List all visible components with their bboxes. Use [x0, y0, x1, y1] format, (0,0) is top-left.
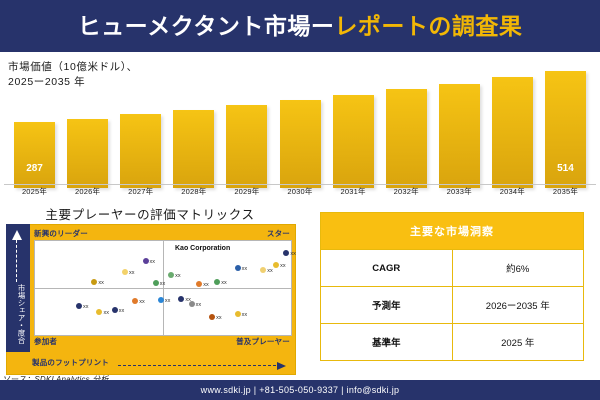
matrix-data-point-label: xx — [280, 263, 286, 269]
bar — [439, 84, 480, 188]
quadrant-label-stars: スター — [267, 228, 290, 239]
x-axis-tick-label: 2031年 — [331, 186, 375, 197]
x-axis-tick-label: 2028年 — [172, 186, 216, 197]
matrix-data-point — [122, 269, 128, 275]
bar-column — [439, 84, 480, 188]
bar — [386, 89, 427, 188]
matrix-data-point-label: xx — [242, 266, 248, 272]
table-row: 予測年2026ー2035 年 — [321, 287, 584, 324]
matrix-data-point-label: xx — [242, 312, 248, 318]
matrix-data-point — [196, 281, 202, 287]
evaluation-matrix-section: 主要プレーヤーの評価マトリックス 市場シェア・度合 新興のリーダー スター 参加… — [0, 202, 300, 380]
matrix-data-point — [273, 262, 279, 268]
matrix-data-point — [168, 272, 174, 278]
matrix-data-point-label: xx — [203, 282, 209, 288]
table-cell-key: 基準年 — [321, 324, 453, 361]
bar-column — [492, 77, 533, 188]
matrix-data-point-label: xx — [98, 280, 104, 286]
bar — [226, 105, 267, 188]
quadrant-label-participants: 参加者 — [34, 336, 57, 347]
x-axis-tick-label: 2030年 — [278, 186, 322, 197]
matrix-data-point-label: xx — [290, 251, 296, 257]
bar-value-label: 287 — [14, 163, 55, 174]
matrix-data-point-label: xx — [83, 304, 89, 310]
table-cell-value: 2026ー2035 年 — [452, 287, 584, 324]
key-insights-table: 主要な市場洞察 CAGR約6%予測年2026ー2035 年基準年2025 年 — [320, 212, 584, 361]
bar-value-label: 514 — [545, 163, 586, 174]
quadrant-label-emerging-leaders: 新興のリーダー — [34, 228, 88, 239]
bar-column — [280, 100, 321, 188]
x-axis-tick-label: 2035年 — [543, 186, 587, 197]
matrix-data-point-label: xx — [119, 308, 125, 314]
matrix-data-point-label: xx — [221, 280, 227, 286]
bar — [280, 100, 321, 188]
bar — [492, 77, 533, 188]
matrix-data-point — [91, 279, 97, 285]
matrix-data-point-label: xx — [267, 268, 273, 274]
page-title: ヒューメクタント市場ーレポートの調査果 — [78, 15, 523, 38]
matrix-data-point — [214, 279, 220, 285]
matrix-y-axis-label: 市場シェア・度合 — [9, 284, 25, 344]
matrix-data-point — [96, 309, 102, 315]
matrix-data-point-label: xx — [139, 299, 145, 305]
matrix-data-point — [153, 280, 159, 286]
quadrant-label-pervasive-players: 普及プレーヤー — [236, 336, 290, 347]
highlighted-company-label: Kao Corporation — [175, 245, 230, 252]
matrix-data-point-label: xx — [165, 298, 171, 304]
matrix-data-point — [189, 301, 195, 307]
matrix-x-axis-label: 製品のフットプリント — [32, 357, 109, 368]
table-header-row: 主要な市場洞察 — [321, 213, 584, 250]
matrix-data-point-label: xx — [150, 259, 156, 265]
bar-chart-section: 市場価値（10億米ドル）、 2025ー2035 年 287514 — [0, 52, 600, 204]
bar-column — [333, 95, 374, 188]
matrix-data-point — [132, 298, 138, 304]
x-axis-tick-label: 2025年 — [13, 186, 57, 197]
table-cell-key: 予測年 — [321, 287, 453, 324]
matrix-data-point-label: xx — [196, 302, 202, 308]
page-title-accent: レポートの調査果 — [334, 13, 522, 39]
bar — [67, 119, 108, 188]
matrix-data-point-label: xx — [175, 273, 181, 279]
bar-column — [67, 119, 108, 188]
matrix-data-point — [283, 250, 289, 256]
footer-bar: www.sdki.jp | +81-505-050-9337 | info@sd… — [0, 380, 600, 400]
bar-series: 287514 — [8, 60, 592, 188]
bar: 287 — [14, 122, 55, 188]
chart-x-axis-labels: 2025年2026年2027年2028年2029年2030年2031年2032年… — [8, 186, 592, 200]
matrix-data-point — [235, 311, 241, 317]
table-cell-value: 約6% — [452, 250, 584, 287]
table-cell-value: 2025 年 — [452, 324, 584, 361]
key-insights-section: 主要な市場洞察 CAGR約6%予測年2026ー2035 年基準年2025 年 — [300, 202, 600, 380]
table-row: 基準年2025 年 — [321, 324, 584, 361]
bar: 514 — [545, 71, 586, 188]
table-row: CAGR約6% — [321, 250, 584, 287]
footer-contact-text: www.sdki.jp | +81-505-050-9337 | info@sd… — [201, 385, 400, 395]
up-arrow-icon — [11, 230, 23, 282]
right-arrow-icon — [118, 362, 286, 370]
bar-column — [386, 89, 427, 188]
x-axis-tick-label: 2033年 — [437, 186, 481, 197]
matrix-data-point — [143, 258, 149, 264]
matrix-scatter-plot: Kao Corporation xxxxxxxxxxxxxxxxxxxxxxxx… — [34, 240, 292, 336]
quadrant-divider-horizontal — [35, 288, 291, 289]
x-axis-tick-label: 2027年 — [119, 186, 163, 197]
table-header-title: 主要な市場洞察 — [321, 213, 584, 250]
matrix-data-point — [235, 265, 241, 271]
matrix-data-point — [178, 296, 184, 302]
matrix-data-point-label: xx — [129, 270, 135, 276]
x-axis-tick-label: 2034年 — [490, 186, 534, 197]
x-axis-tick-label: 2026年 — [66, 186, 110, 197]
bar — [120, 114, 161, 188]
matrix-data-point — [260, 267, 266, 273]
header-bar: ヒューメクタント市場ーレポートの調査果 — [0, 0, 600, 52]
matrix-data-point — [112, 307, 118, 313]
bar — [333, 95, 374, 188]
bar-column — [226, 105, 267, 188]
matrix-title: 主要プレーヤーの評価マトリックス — [0, 204, 300, 223]
bar-column — [120, 114, 161, 188]
bar — [173, 110, 214, 188]
matrix-data-point-label: xx — [216, 315, 222, 321]
report-infographic: ヒューメクタント市場ーレポートの調査果 市場価値（10億米ドル）、 2025ー2… — [0, 0, 600, 400]
table-cell-key: CAGR — [321, 250, 453, 287]
x-axis-tick-label: 2032年 — [384, 186, 428, 197]
x-axis-tick-label: 2029年 — [225, 186, 269, 197]
bar-column: 514 — [545, 71, 586, 188]
bar-column — [173, 110, 214, 188]
matrix-data-point-label: xx — [160, 281, 166, 287]
bar-column: 287 — [14, 122, 55, 188]
matrix-data-point — [209, 314, 215, 320]
page-title-primary: ヒューメクタント市場ー — [78, 13, 335, 39]
matrix-data-point — [76, 303, 82, 309]
chart-baseline — [4, 184, 596, 185]
matrix-data-point-label: xx — [103, 310, 109, 316]
